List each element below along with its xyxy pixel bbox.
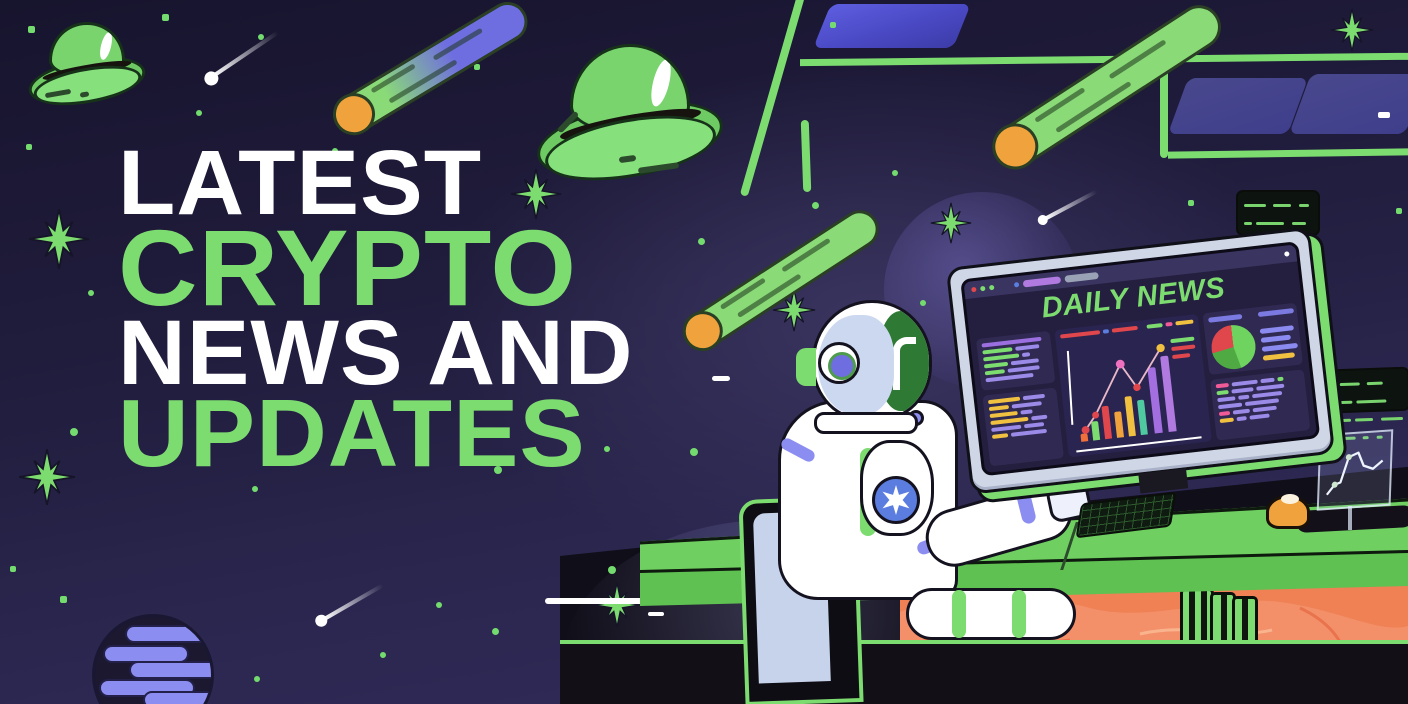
chart-plot-area bbox=[1064, 331, 1202, 443]
window-maximize-dot[interactable] bbox=[989, 285, 995, 291]
sparkle-icon bbox=[930, 202, 972, 244]
orange-desk-object bbox=[1266, 495, 1310, 529]
shooting-star bbox=[712, 376, 734, 386]
monitor-bezel: DAILY NEWS bbox=[946, 227, 1335, 495]
terminal-line bbox=[1340, 401, 1352, 404]
ship-frame-strut-left-lower bbox=[801, 120, 812, 192]
pie-chart-block bbox=[1208, 313, 1258, 370]
legend-chip bbox=[1258, 308, 1294, 317]
star-dot bbox=[196, 110, 202, 116]
headline-line-4: UPDATES bbox=[118, 391, 634, 477]
terminal-line bbox=[1256, 222, 1284, 225]
terminal-line bbox=[1355, 418, 1373, 422]
astronaut-badge bbox=[872, 476, 920, 524]
pie-legend bbox=[1258, 308, 1300, 364]
terminal-line bbox=[1292, 222, 1306, 225]
planet-striped-bottom-left bbox=[92, 614, 214, 704]
ship-window-glass-right-a bbox=[1168, 78, 1308, 134]
terminal-line bbox=[1357, 399, 1387, 403]
shooting-star bbox=[311, 576, 386, 630]
legend-chip bbox=[1103, 329, 1109, 334]
pie-card[interactable] bbox=[1203, 303, 1303, 375]
star-dot bbox=[1396, 208, 1402, 214]
news-card-bottom[interactable] bbox=[982, 387, 1064, 466]
helmet-neck-ring bbox=[814, 412, 918, 434]
terminal-bottom-right bbox=[1331, 367, 1408, 414]
ufo-small-top-left bbox=[28, 22, 146, 110]
astronaut-leg-band bbox=[1012, 590, 1026, 638]
comet-purple-tail bbox=[325, 0, 535, 143]
star-dot bbox=[608, 566, 616, 574]
ship-window-glass-right-b bbox=[1289, 74, 1408, 134]
planet-stripe bbox=[143, 691, 214, 704]
planet-stripe bbox=[125, 625, 214, 643]
star-dot bbox=[812, 202, 819, 209]
terminal-line bbox=[1244, 222, 1252, 225]
terminal-line bbox=[1244, 204, 1266, 207]
star-dot bbox=[26, 144, 32, 150]
chart-line-overlay bbox=[1064, 331, 1202, 443]
tab-favicon bbox=[1014, 282, 1020, 288]
shooting-star bbox=[1034, 183, 1100, 228]
legend-chip bbox=[1261, 335, 1291, 343]
ship-window-indicator bbox=[1378, 112, 1390, 118]
star-dot bbox=[252, 486, 258, 492]
star-dot bbox=[88, 290, 94, 296]
legend-chip bbox=[1112, 326, 1138, 333]
window-minimize-dot[interactable] bbox=[980, 286, 986, 292]
sparkle-icon bbox=[28, 208, 90, 270]
terminal-line bbox=[1381, 417, 1403, 421]
legend-chip bbox=[1175, 319, 1193, 325]
star-icon bbox=[881, 485, 911, 515]
terminal-line bbox=[1299, 204, 1309, 207]
feed-card[interactable] bbox=[1210, 369, 1310, 440]
news-card-top[interactable] bbox=[976, 331, 1055, 391]
star-dot bbox=[690, 448, 698, 456]
shooting-star bbox=[198, 23, 279, 86]
sparkle-icon bbox=[1330, 8, 1374, 52]
legend-chip bbox=[1060, 330, 1100, 339]
headline: LATEST CRYPTO NEWS AND UPDATES bbox=[118, 142, 623, 477]
sparkle-icon bbox=[18, 448, 76, 506]
pie-chart-wrap bbox=[1209, 323, 1258, 372]
monitor-screen: DAILY NEWS bbox=[960, 241, 1320, 476]
chrome-indicator-dot bbox=[1284, 251, 1290, 257]
dashboard-left-column bbox=[976, 331, 1064, 467]
chart-panel[interactable] bbox=[1054, 314, 1212, 457]
star-dot bbox=[254, 676, 260, 682]
ufo-saucer-lower bbox=[30, 59, 143, 113]
star-dot bbox=[1188, 200, 1194, 206]
shooting-star bbox=[648, 612, 664, 618]
holographic-chart-stem bbox=[1348, 506, 1352, 530]
legend-chip bbox=[1262, 343, 1298, 352]
star-dot bbox=[436, 602, 442, 608]
monitor: DAILY NEWS bbox=[946, 225, 1349, 504]
legend-chip bbox=[1263, 352, 1295, 361]
window-close-dot[interactable] bbox=[971, 287, 977, 293]
star-dot bbox=[830, 22, 836, 28]
browser-tab-inactive[interactable] bbox=[1064, 272, 1099, 283]
legend-chip bbox=[1260, 325, 1294, 334]
terminal-line bbox=[1273, 204, 1291, 207]
helmet-side-vent bbox=[796, 348, 816, 386]
ship-frame-strut-left bbox=[740, 0, 808, 197]
terminal-line bbox=[1340, 382, 1360, 386]
banner-illustration: LATEST CRYPTO NEWS AND UPDATES bbox=[0, 0, 1408, 704]
star-dot bbox=[60, 596, 67, 603]
browser-tab-active[interactable] bbox=[1023, 276, 1062, 287]
astronaut-leg-band bbox=[952, 590, 966, 638]
star-dot bbox=[10, 566, 16, 572]
star-dot bbox=[492, 628, 499, 635]
astronaut-leg bbox=[906, 588, 1076, 640]
dashboard-right-column bbox=[1203, 303, 1311, 441]
legend-chip bbox=[1165, 322, 1172, 327]
ship-frame-band-mid bbox=[1168, 148, 1408, 158]
star-dot bbox=[162, 14, 169, 21]
star-dot bbox=[698, 238, 705, 245]
helmet-earpiece bbox=[818, 342, 860, 384]
ship-window-glass-topleft bbox=[813, 4, 971, 48]
planet-stripe bbox=[129, 661, 214, 679]
legend-chip bbox=[1146, 323, 1162, 329]
star-dot bbox=[380, 652, 386, 658]
star-dot bbox=[892, 170, 898, 176]
star-dot bbox=[70, 428, 78, 436]
pie-chart bbox=[1209, 323, 1258, 372]
terminal-line bbox=[1367, 382, 1383, 386]
